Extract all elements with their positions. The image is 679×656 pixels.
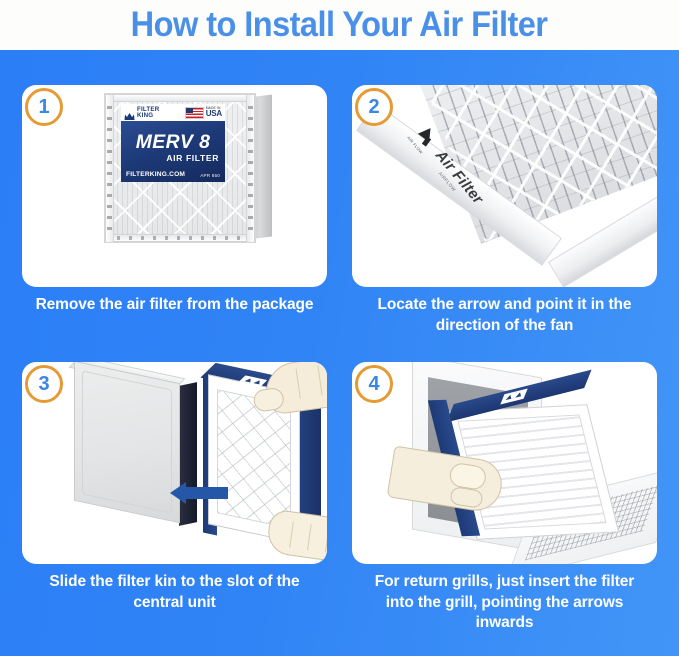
made-in-usa-badge: MADE IN USA — [185, 107, 222, 119]
filter-staples-left — [107, 106, 112, 232]
central-unit-front-face — [74, 362, 180, 523]
step-3-caption: Slide the filter kin to the slot of the … — [32, 572, 317, 613]
filter-staples-right — [248, 106, 253, 232]
filter-frame-top — [105, 94, 256, 102]
step-2-number: 2 — [368, 97, 379, 117]
filter-front-face: FILTER KING MADE IN USA — [104, 93, 256, 243]
label-brand-row: FILTER KING MADE IN USA — [121, 104, 225, 121]
filter-staples-bottom — [117, 236, 245, 240]
step-1-card: FILTER KING MADE IN USA — [22, 85, 327, 287]
header-bar: How to Install Your Air Filter — [0, 0, 679, 50]
step-1: FILTER KING MADE IN USA — [22, 85, 327, 330]
step-1-number: 1 — [38, 97, 49, 117]
step-3-number: 3 — [38, 374, 49, 394]
step-2-card: AIR FLOW Air Filter AIRFLOW — [352, 85, 657, 287]
label-subtitle: AIR FILTER — [121, 153, 219, 163]
step-2: AIR FLOW Air Filter AIRFLOW 2 Locate the… — [352, 85, 657, 330]
step-1-caption: Remove the air filter from the package — [22, 295, 327, 316]
air-filter-photo: FILTER KING MADE IN USA — [104, 93, 272, 243]
step-2-badge: 2 — [355, 88, 393, 126]
return-grill-illustration — [352, 362, 657, 564]
label-footer-row: FILTERKING.COM APR 650 — [126, 171, 220, 178]
made-in-usa-text: MADE IN USA — [206, 107, 222, 118]
usa-flag-icon — [185, 107, 204, 119]
step-4-badge: 4 — [355, 365, 393, 403]
step-4-caption: For return grills, just insert the filte… — [360, 572, 649, 634]
label-blue-panel: MERV 8 AIR FILTER FILTERKING.COM APR 650 — [121, 121, 225, 182]
step-2-caption: Locate the arrow and point it in the dir… — [362, 295, 647, 336]
filter-product-label: FILTER KING MADE IN USA — [121, 104, 225, 182]
brand-text: FILTER KING — [137, 107, 159, 118]
step-3-badge: 3 — [25, 365, 63, 403]
step-3: 3 Slide the filter kin to the slot of th… — [22, 362, 327, 612]
filter-king-logo: FILTER KING — [124, 107, 159, 118]
step-1-badge: 1 — [25, 88, 63, 126]
brand-line-2: KING — [137, 113, 159, 119]
slide-into-unit-illustration — [22, 362, 327, 564]
hand-upper — [262, 362, 327, 416]
central-unit-side-face — [179, 382, 197, 526]
filter-corner-photo: AIR FLOW Air Filter AIRFLOW — [352, 85, 657, 287]
step-3-card — [22, 362, 327, 564]
infographic-page: How to Install Your Air Filter — [0, 0, 679, 656]
label-apr: APR 650 — [200, 173, 220, 178]
merv-rating: MERV 8 — [121, 132, 225, 154]
page-title: How to Install Your Air Filter — [131, 5, 548, 45]
step-4-card — [352, 362, 657, 564]
hand-lower — [265, 509, 327, 564]
step-4: 4 For return grills, just insert the fil… — [352, 362, 657, 632]
country-label: USA — [206, 110, 222, 118]
crown-icon — [124, 108, 135, 117]
step-4-number: 4 — [368, 374, 379, 394]
label-website: FILTERKING.COM — [126, 171, 185, 178]
